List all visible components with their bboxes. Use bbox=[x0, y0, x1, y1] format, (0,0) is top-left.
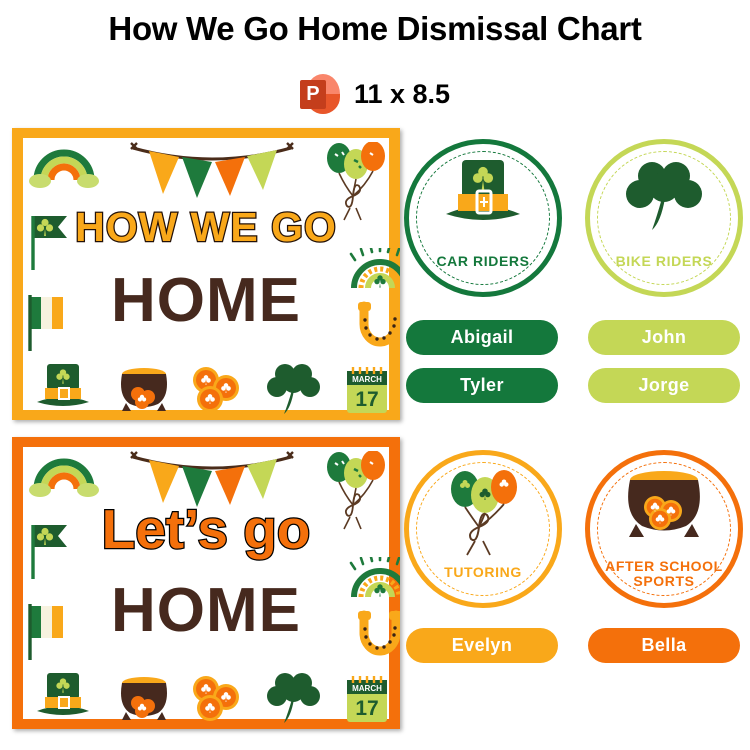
slide-canvas: MARCH 17 HOW WE GO HOME bbox=[23, 138, 389, 410]
badge-car-riders[interactable]: CAR RIDERS bbox=[404, 139, 562, 297]
badge-bike-riders[interactable]: BIKE RIDERS bbox=[585, 139, 743, 297]
leprechaun-hat-icon bbox=[33, 671, 93, 721]
calendar-day: 17 bbox=[355, 697, 378, 720]
student-pill-abigail[interactable]: Abigail bbox=[406, 320, 558, 355]
powerpoint-icon: P bbox=[300, 72, 340, 116]
shamrock-icon bbox=[624, 158, 704, 234]
badge-art bbox=[590, 158, 738, 234]
badge-art bbox=[409, 467, 557, 559]
gold-coins-icon bbox=[186, 675, 248, 725]
badge-art bbox=[409, 158, 557, 230]
badge-tutoring[interactable]: TUTORING bbox=[404, 450, 562, 608]
rainbow-icon bbox=[29, 449, 99, 497]
shamrock-icon bbox=[266, 360, 322, 418]
slide1-line1: HOW WE GO bbox=[23, 204, 389, 251]
badge-label-after-school-sports: AFTER SCHOOL SPORTS bbox=[590, 559, 738, 589]
pot-of-gold-icon bbox=[115, 674, 173, 724]
file-meta: P 11 x 8.5 bbox=[0, 72, 750, 116]
rainbow-icon bbox=[29, 140, 99, 188]
powerpoint-icon-letter: P bbox=[300, 80, 326, 109]
bunting-icon bbox=[127, 138, 297, 200]
slide-how-we-go-home[interactable]: MARCH 17 HOW WE GO HOME bbox=[12, 128, 400, 420]
student-pill-evelyn[interactable]: Evelyn bbox=[406, 628, 558, 663]
leprechaun-hat-icon bbox=[33, 362, 93, 412]
badge-after-school-sports[interactable]: AFTER SCHOOL SPORTS bbox=[585, 450, 743, 608]
dimensions-label: 11 x 8.5 bbox=[354, 79, 450, 110]
badge-label-bike-riders: BIKE RIDERS bbox=[590, 254, 738, 269]
calendar-month: MARCH bbox=[352, 375, 382, 384]
leprechaun-hat-icon bbox=[440, 158, 526, 230]
calendar-icon: MARCH 17 bbox=[341, 675, 393, 727]
slide-canvas: MARCH 17 Let’s go HOME bbox=[23, 447, 389, 719]
badge-label-tutoring: TUTORING bbox=[409, 565, 557, 580]
calendar-icon: MARCH 17 bbox=[341, 366, 393, 418]
page-title: How We Go Home Dismissal Chart bbox=[0, 10, 750, 48]
student-pill-john[interactable]: John bbox=[588, 320, 740, 355]
badge-label-car-riders: CAR RIDERS bbox=[409, 254, 557, 269]
badge-label-line2: SPORTS bbox=[590, 574, 738, 589]
pot-of-gold-icon bbox=[619, 467, 709, 545]
calendar-day: 17 bbox=[355, 388, 378, 411]
student-pill-tyler[interactable]: Tyler bbox=[406, 368, 558, 403]
badge-label-line1: AFTER SCHOOL bbox=[590, 559, 738, 574]
slide1-line2: HOME bbox=[23, 265, 389, 336]
shamrock-icon bbox=[266, 669, 322, 727]
slide2-line2: HOME bbox=[23, 575, 389, 646]
page-root: How We Go Home Dismissal Chart P 11 x 8.… bbox=[0, 0, 750, 750]
calendar-month: MARCH bbox=[352, 684, 382, 693]
slide-lets-go-home[interactable]: MARCH 17 Let’s go HOME bbox=[12, 437, 400, 729]
student-pill-jorge[interactable]: Jorge bbox=[588, 368, 740, 403]
badge-art bbox=[590, 467, 738, 545]
balloons-icon bbox=[443, 467, 523, 559]
student-pill-bella[interactable]: Bella bbox=[588, 628, 740, 663]
gold-coins-icon bbox=[186, 366, 248, 416]
slide2-line1: Let’s go bbox=[23, 497, 389, 561]
pot-of-gold-icon bbox=[115, 365, 173, 415]
